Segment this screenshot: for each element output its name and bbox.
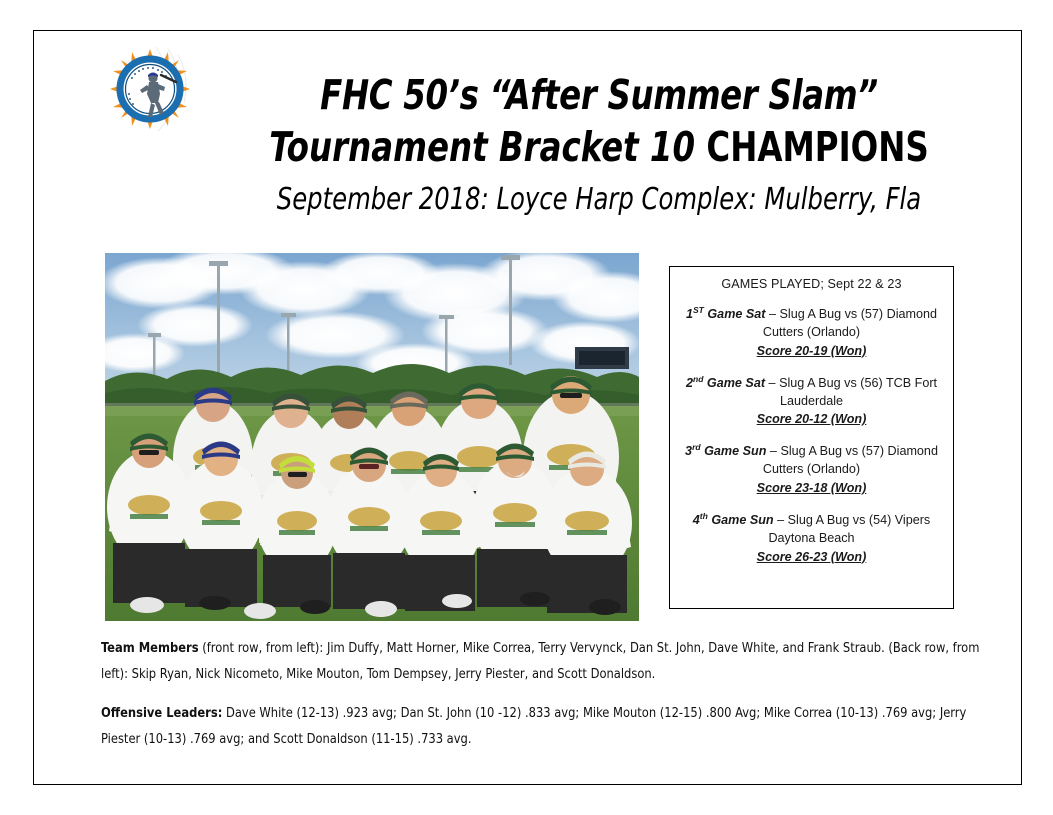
game-2-dash: –: [765, 376, 779, 390]
game-1-description: Slug A Bug vs (57) Diamond Cutters (Orla…: [763, 307, 937, 339]
game-1-label-rest: Game Sat: [704, 307, 766, 321]
game-3-description: Slug A Bug vs (57) Diamond Cutters (Orla…: [763, 444, 938, 476]
games-played-header: GAMES PLAYED; Sept 22 & 23: [678, 277, 945, 291]
game-1-score: Score 20-19 (Won): [682, 343, 941, 361]
game-2-ordinal: 2: [686, 376, 693, 390]
offensive-leaders-body: Dave White (12-13) .923 avg; Dan St. Joh…: [101, 706, 966, 747]
game-3-dash: –: [766, 444, 780, 458]
game-2-label: 2nd Game Sat: [686, 376, 765, 390]
page-title-line-1: FHC 50’s “After Summer Slam”: [234, 69, 964, 121]
game-3-label: 3rd Game Sun: [685, 444, 766, 458]
title-block: FHC 50’s “After Summer Slam” Tournament …: [184, 69, 1014, 222]
game-2-description: Slug A Bug vs (56) TCB Fort Lauderdale: [779, 376, 937, 408]
team-members-paragraph: Team Members (front row, from left): Jim…: [101, 636, 982, 687]
softball-batter-emblem-icon: [106, 45, 194, 133]
team-members-lead: Team Members: [101, 641, 199, 656]
game-1-ordinal: 1: [686, 307, 693, 321]
game-entry-3: 3rd Game Sun – Slug A Bug vs (57) Diamon…: [678, 443, 945, 498]
game-1-dash: –: [766, 307, 780, 321]
game-1-ordinal-suffix: ST: [693, 305, 704, 315]
game-entry-1: 1ST Game Sat – Slug A Bug vs (57) Diamon…: [678, 306, 945, 361]
game-2-ordinal-suffix: nd: [693, 373, 703, 383]
document-header: FHC 50’s “After Summer Slam” Tournament …: [34, 31, 1021, 236]
game-2-score: Score 20-12 (Won): [682, 411, 941, 429]
games-played-box: GAMES PLAYED; Sept 22 & 23 1ST Game Sat …: [669, 266, 954, 609]
game-2-label-rest: Game Sat: [703, 376, 765, 390]
team-members-body: (front row, from left): Jim Duffy, Matt …: [101, 641, 979, 682]
game-3-score: Score 23-18 (Won): [682, 480, 941, 498]
page-title-line-2: Tournament Bracket 10 CHAMPIONS: [234, 121, 964, 173]
game-1-label: 1ST Game Sat: [686, 307, 766, 321]
game-3-label-rest: Game Sun: [701, 444, 767, 458]
game-entry-4: 4th Game Sun – Slug A Bug vs (54) Vipers…: [678, 512, 945, 567]
document-page: FHC 50’s “After Summer Slam” Tournament …: [33, 30, 1022, 785]
offensive-leaders-paragraph: Offensive Leaders: Dave White (12-13) .9…: [101, 701, 982, 752]
game-3-ordinal-suffix: rd: [692, 442, 701, 452]
page-title-line-2-italic: Tournament Bracket 10: [269, 123, 695, 171]
page-title-line-2-upright: CHAMPIONS: [695, 123, 929, 171]
game-4-ordinal: 4: [693, 513, 700, 527]
game-4-label-rest: Game Sun: [708, 513, 774, 527]
game-4-score: Score 26-23 (Won): [682, 549, 941, 567]
game-entry-2: 2nd Game Sat – Slug A Bug vs (56) TCB Fo…: [678, 375, 945, 430]
game-3-ordinal: 3: [685, 444, 692, 458]
offensive-leaders-lead: Offensive Leaders:: [101, 706, 222, 721]
page-subtitle: September 2018: Loyce Harp Complex: Mulb…: [226, 177, 973, 222]
caption-area: Team Members (front row, from left): Jim…: [101, 636, 1009, 767]
game-4-label: 4th Game Sun: [693, 513, 774, 527]
game-4-dash: –: [774, 513, 788, 527]
game-4-ordinal-suffix: th: [700, 511, 708, 521]
team-photograph: [105, 253, 639, 621]
game-4-description: Slug A Bug vs (54) Vipers Daytona Beach: [768, 513, 930, 545]
